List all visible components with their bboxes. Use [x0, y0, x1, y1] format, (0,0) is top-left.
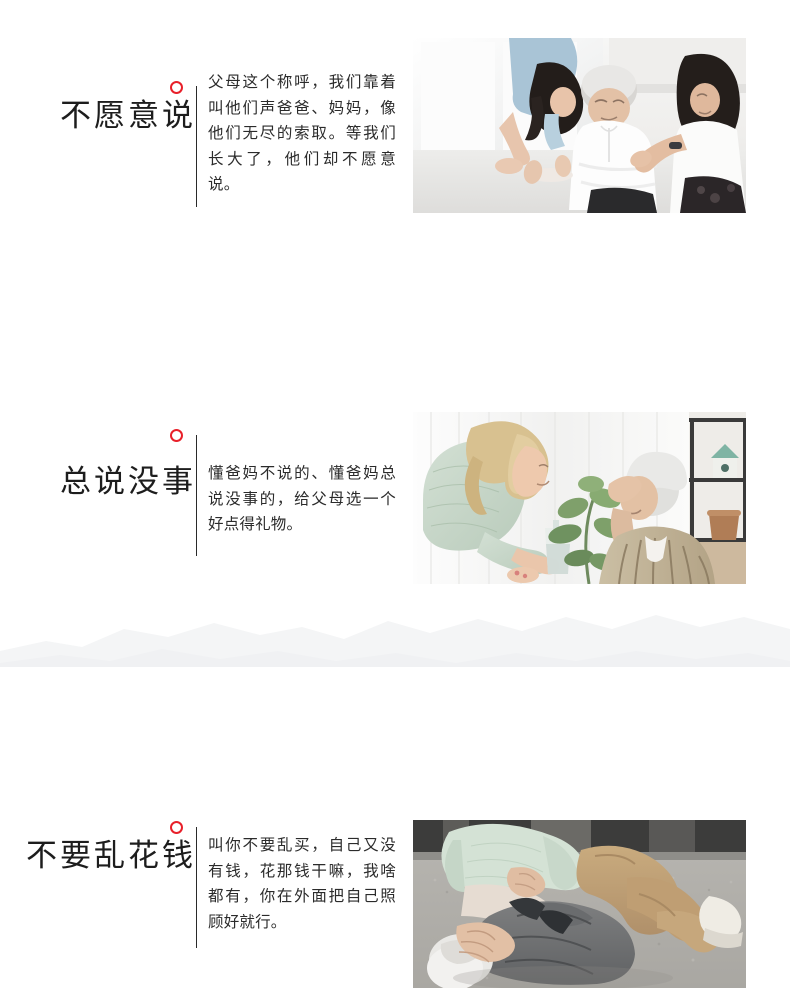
photo-elderly-fallen-floor: [413, 820, 746, 988]
section-3-body-text: 叫你不要乱买，自己又没有钱，花那钱干嘛，我啥都有，你在外面把自己照顾好就行。: [208, 833, 396, 935]
content-section-3: 不要乱花钱 叫你不要乱买，自己又没有钱，花那钱干嘛，我啥都有，你在外面把自己照顾…: [0, 410, 790, 578]
page-root: 不愿意说 父母这个称呼，我们靠着叫他们声爸爸、妈妈，像他们无尽的索取。等我们长大…: [0, 0, 790, 667]
vertical-divider: [196, 86, 197, 207]
mountain-landscape-watermark: [0, 577, 790, 667]
section-3-text-block: 不要乱花钱 叫你不要乱买，自己又没有钱，花那钱干嘛，我啥都有，你在外面把自己照顾…: [0, 410, 400, 578]
vertical-divider: [196, 827, 197, 948]
section-2-text-block: 总说没事 懂爸妈不说的、懂爸妈总说没事的，给父母选一个好点得礼物。: [0, 206, 400, 380]
section-1-heading: 不愿意说: [24, 94, 196, 137]
section-1-text-block: 不愿意说 父母这个称呼，我们靠着叫他们声爸爸、妈妈，像他们无尽的索取。等我们长大…: [0, 18, 400, 200]
section-3-heading: 不要乱花钱: [24, 834, 196, 877]
red-ring-marker-icon: [170, 821, 183, 834]
photo-elderly-helped-up: [413, 38, 746, 213]
content-section-1: 不愿意说 父母这个称呼，我们靠着叫他们声爸爸、妈妈，像他们无尽的索取。等我们长大…: [0, 18, 790, 200]
content-section-2: 总说没事 懂爸妈不说的、懂爸妈总说没事的，给父母选一个好点得礼物。: [0, 206, 790, 380]
section-1-body-text: 父母这个称呼，我们靠着叫他们声爸爸、妈妈，像他们无尽的索取。等我们长大了，他们却…: [208, 70, 396, 198]
red-ring-marker-icon: [170, 81, 183, 94]
